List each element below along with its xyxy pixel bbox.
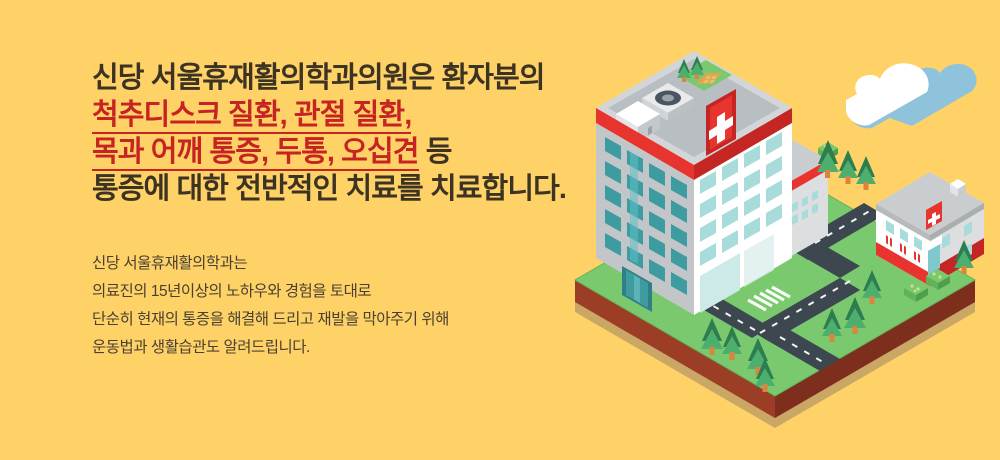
headline-line-1: 신당 서울휴재활의학과의원은 환자분의 [92, 60, 612, 97]
promo-banner: 신당 서울휴재활의학과의원은 환자분의 척추디스크 질환, 관절 질환, 목과 … [0, 0, 1000, 460]
headline-line-4: 통증에 대한 전반적인 치료를 치료합니다. [92, 171, 612, 208]
headline-line-3-highlight: 목과 어깨 통증, 두통, 오십견 [92, 136, 419, 171]
hospital-illustration [560, 20, 1000, 460]
tree [856, 156, 876, 190]
tree [838, 150, 858, 184]
hospital-tower [596, 51, 792, 315]
headline: 신당 서울휴재활의학과의원은 환자분의 척추디스크 질환, 관절 질환, 목과 … [92, 60, 612, 208]
headline-block: 신당 서울휴재활의학과의원은 환자분의 척추디스크 질환, 관절 질환, 목과 … [92, 60, 612, 208]
headline-line-3: 목과 어깨 통증, 두통, 오십견 등 [92, 134, 612, 171]
cloud-icon [846, 63, 977, 128]
headline-line-2-highlight: 척추디스크 질환, 관절 질환, [92, 99, 411, 134]
headline-line-3-tail: 등 [419, 136, 452, 168]
headline-line-2: 척추디스크 질환, 관절 질환, [92, 97, 612, 134]
